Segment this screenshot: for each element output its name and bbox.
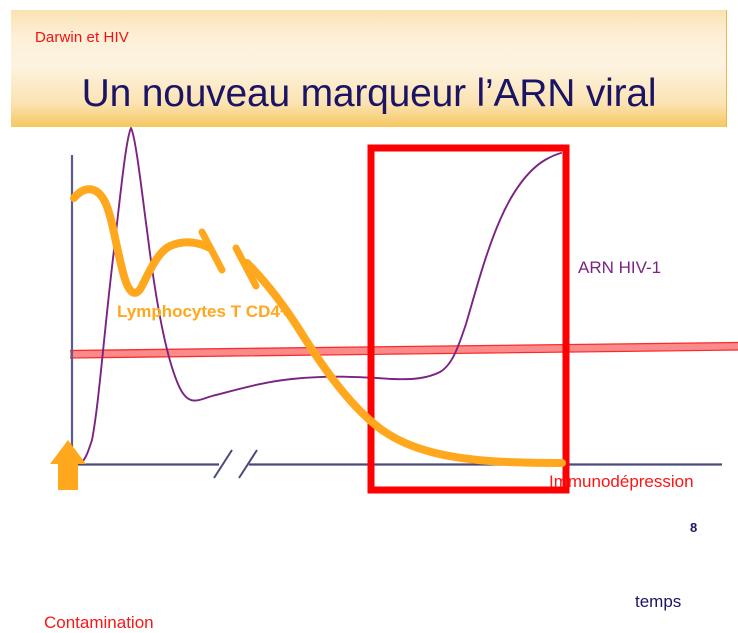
x-axis-label: temps xyxy=(635,592,681,612)
series-label-immunodepression: Immunodépression xyxy=(549,472,694,492)
annotation-label-contamination: Contamination xyxy=(44,613,154,633)
series-label-cd4: Lymphocytes T CD4+ xyxy=(117,302,290,322)
cd4-break-mark-left xyxy=(202,232,222,270)
hiv-progression-chart: Lymphocytes T CD4+ ARN HIV-1 Immunodépre… xyxy=(0,120,738,553)
series-cd4-curve-segment-1 xyxy=(74,189,210,293)
slide-canvas: Darwin et HIV Un nouveau marqueur l’ARN … xyxy=(0,0,738,553)
slide-page-number: 8 xyxy=(690,520,697,535)
page-title: Un nouveau marqueur l’ARN viral xyxy=(11,72,727,116)
immunodepression-threshold-line xyxy=(70,343,738,359)
series-arn-hiv1-curve xyxy=(82,128,561,462)
presentation-eyebrow-label: Darwin et HIV xyxy=(35,29,129,46)
series-label-arn-hiv1: ARN HIV-1 xyxy=(578,258,661,278)
slide-header-banner: Darwin et HIV Un nouveau marqueur l’ARN … xyxy=(11,10,727,127)
series-cd4-curve-segment-2 xyxy=(247,263,562,463)
